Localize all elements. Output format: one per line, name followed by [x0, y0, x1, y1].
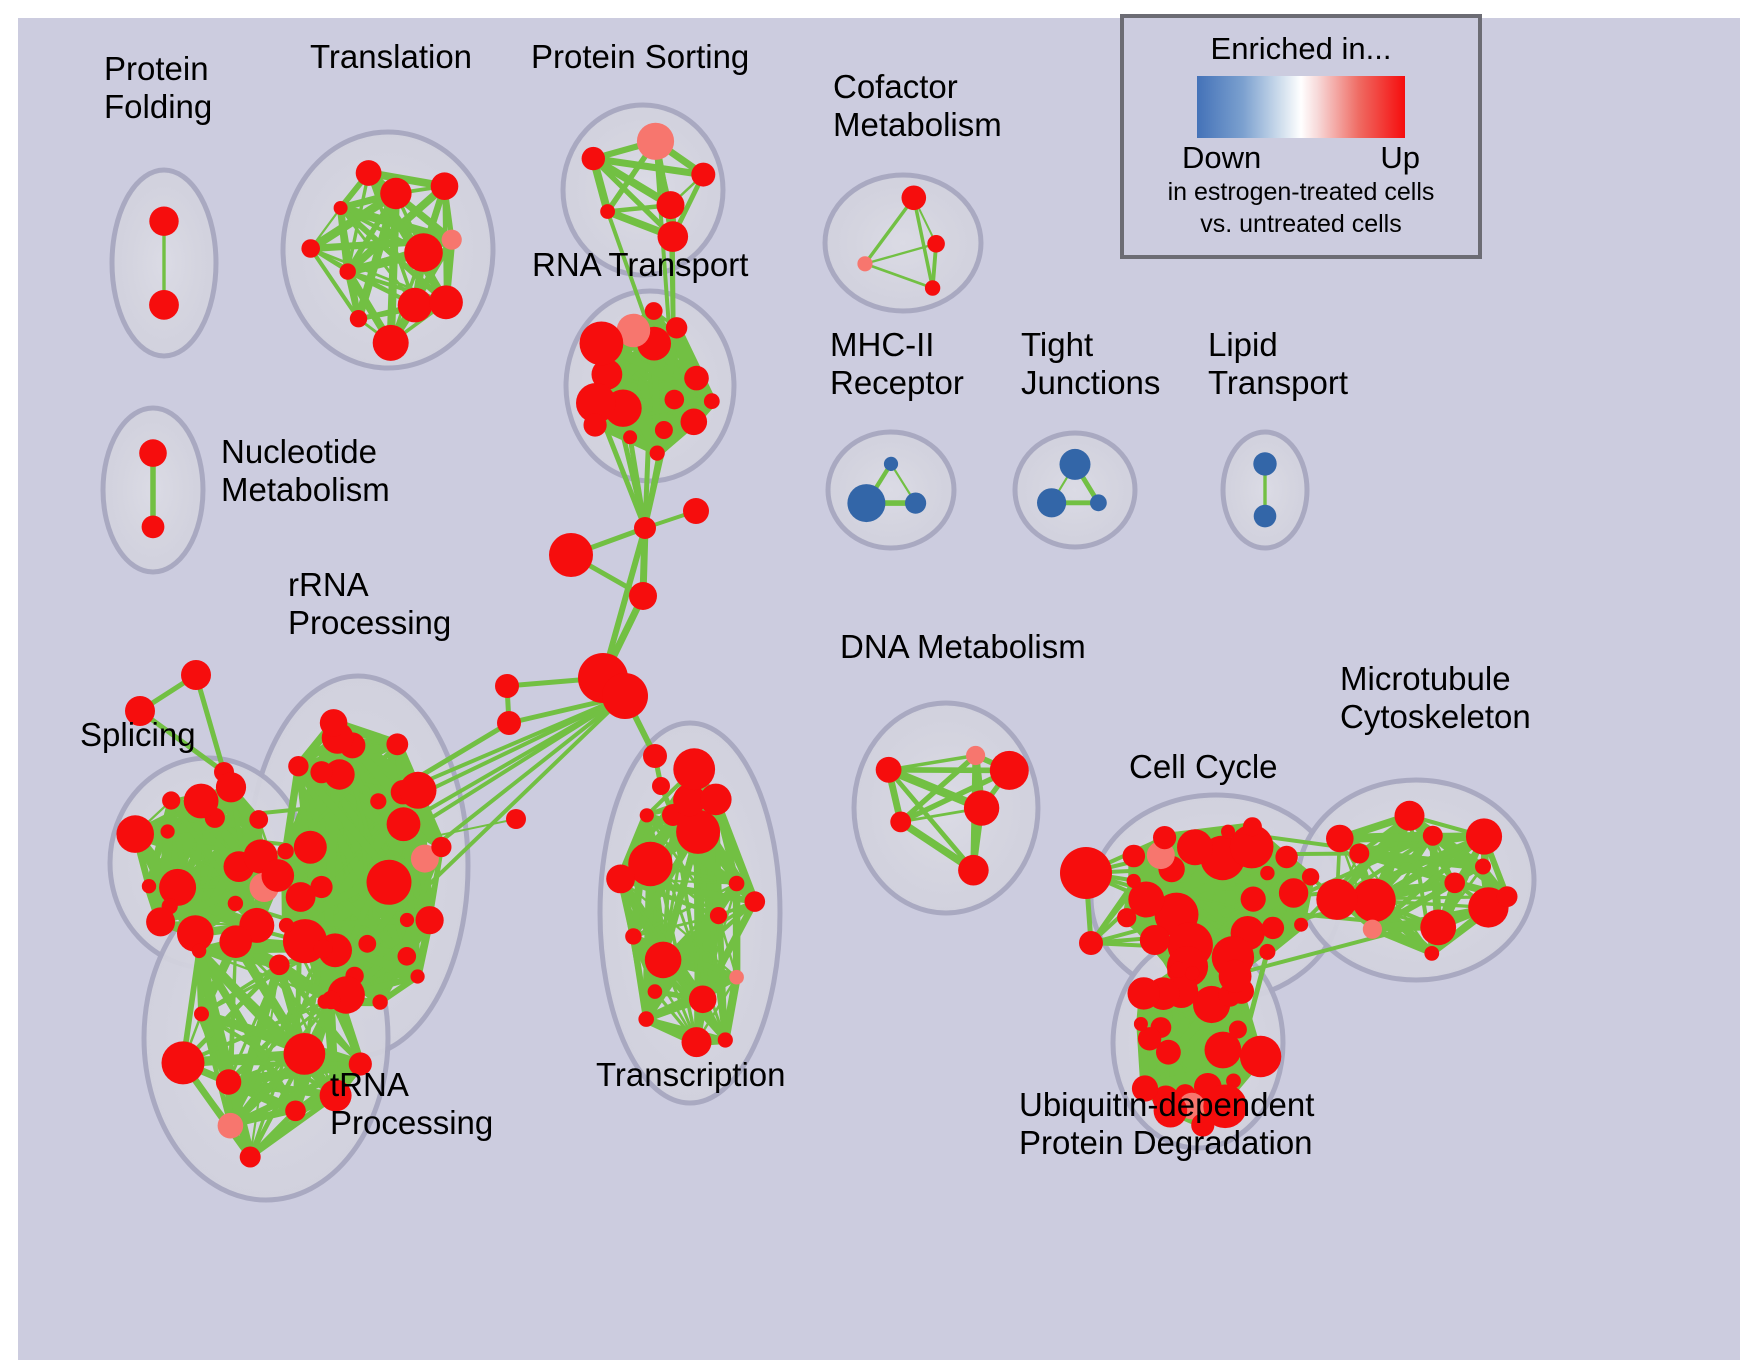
network-node-rna-transport: [645, 302, 663, 320]
network-node-splicing: [216, 772, 246, 802]
network-node-rrna-processing: [310, 761, 332, 783]
cluster-label-tight-junctions: Junctions: [1021, 364, 1160, 401]
network-node-rna-transport: [681, 409, 708, 436]
network-node-bridge: [602, 673, 648, 719]
network-node-mhc-ii-receptor: [884, 457, 898, 471]
network-node-rna-transport: [655, 421, 673, 439]
network-node-protein-sorting: [582, 147, 605, 170]
legend-gradient-bar: [1197, 76, 1405, 138]
network-node-protein-sorting: [637, 123, 674, 160]
network-node-bridge: [181, 660, 211, 690]
network-node-dna-metabolism: [958, 855, 989, 886]
cluster-ellipse-dna-metabolism: [854, 703, 1038, 913]
network-node-microtubule-cytoskeleton: [1466, 818, 1502, 854]
network-node-dna-metabolism: [876, 757, 902, 783]
network-node-translation: [442, 230, 462, 250]
network-node-rrna-processing: [370, 793, 386, 809]
cluster-label-lipid-transport: Transport: [1208, 364, 1348, 401]
network-node-splicing: [184, 784, 219, 819]
legend-low-label: Down: [1182, 140, 1261, 176]
cluster-label-ubiquitin-degradation: Ubiquitin-dependent: [1019, 1086, 1314, 1123]
network-node-rrna-processing: [286, 882, 316, 912]
network-node-rrna-processing: [400, 772, 437, 809]
network-node-trna-processing: [314, 939, 333, 958]
cluster-label-rrna-processing: Processing: [288, 604, 451, 641]
network-node-trna-processing: [218, 1113, 244, 1139]
network-node-trna-processing: [162, 1041, 205, 1084]
cluster-label-transcription: Transcription: [596, 1056, 786, 1093]
cluster-label-mhc-ii-receptor: Receptor: [830, 364, 964, 401]
network-node-cell-cycle: [1153, 826, 1176, 849]
network-node-trna-processing: [216, 1069, 241, 1094]
network-node-tight-junctions: [1037, 488, 1066, 517]
network-node-trna-processing: [240, 1147, 261, 1168]
network-node-rrna-processing: [386, 733, 408, 755]
network-node-ubiquitin-degradation: [1128, 977, 1160, 1009]
network-node-bridge: [1079, 931, 1103, 955]
network-node-cell-cycle: [1279, 878, 1308, 907]
network-node-dna-metabolism: [990, 751, 1029, 790]
network-node-rrna-processing: [320, 709, 348, 737]
network-node-protein-sorting: [691, 163, 715, 187]
network-node-rrna-processing: [431, 837, 451, 857]
legend-endpoints: Down Up: [1182, 140, 1420, 176]
network-node-microtubule-cytoskeleton: [1475, 859, 1491, 875]
network-node-transcription: [673, 748, 715, 790]
network-node-cofactor-metabolism: [925, 280, 940, 295]
network-node-cell-cycle: [1140, 925, 1170, 955]
cluster-label-protein-folding: Folding: [104, 88, 212, 125]
network-node-cell-cycle: [1275, 846, 1297, 868]
network-node-ubiquitin-degradation: [1219, 960, 1252, 993]
network-node-translation: [356, 160, 382, 186]
network-node-ubiquitin-degradation: [1240, 1036, 1281, 1077]
cluster-label-dna-metabolism: DNA Metabolism: [840, 628, 1086, 665]
network-node-rrna-processing: [358, 935, 376, 953]
network-node-lipid-transport: [1254, 505, 1277, 528]
network-node-translation: [373, 325, 409, 361]
cluster-label-lipid-transport: Lipid: [1208, 326, 1278, 363]
network-node-rrna-processing: [387, 807, 421, 841]
network-node-protein-folding: [149, 290, 179, 320]
legend-high-label: Up: [1380, 140, 1420, 176]
network-node-rna-transport: [665, 390, 685, 410]
network-node-microtubule-cytoskeleton: [1316, 879, 1357, 920]
network-node-trna-processing: [192, 944, 206, 958]
network-node-transcription: [745, 891, 766, 912]
network-node-transcription: [710, 907, 727, 924]
network-node-translation: [431, 172, 459, 200]
network-node-microtubule-cytoskeleton: [1395, 801, 1425, 831]
network-node-dna-metabolism: [966, 746, 985, 765]
network-node-mhc-ii-receptor: [847, 484, 885, 522]
network-node-bridge: [634, 517, 656, 539]
network-node-rrna-processing: [277, 843, 293, 859]
legend-title: Enriched in...: [1211, 32, 1392, 66]
network-node-tight-junctions: [1090, 494, 1107, 511]
network-node-protein-sorting: [657, 191, 685, 219]
cluster-label-cofactor-metabolism: Cofactor: [833, 68, 958, 105]
network-node-rrna-processing: [294, 831, 327, 864]
network-node-rna-transport: [704, 393, 720, 409]
network-node-rrna-processing: [416, 906, 444, 934]
network-node-rrna-processing: [400, 913, 414, 927]
network-node-translation: [404, 233, 443, 272]
network-node-bridge: [683, 498, 709, 524]
network-node-translation: [334, 201, 348, 215]
network-node-splicing: [116, 815, 154, 853]
network-node-translation: [380, 178, 411, 209]
network-node-transcription: [676, 810, 720, 854]
network-node-cell-cycle: [1260, 866, 1274, 880]
network-node-cell-cycle: [1221, 825, 1235, 839]
network-node-microtubule-cytoskeleton: [1363, 920, 1382, 939]
network-node-cell-cycle: [1241, 887, 1266, 912]
network-node-microtubule-cytoskeleton: [1424, 946, 1439, 961]
network-node-bridge: [497, 711, 521, 735]
network-node-protein-sorting: [600, 204, 615, 219]
network-node-bridge: [629, 582, 657, 610]
network-node-trna-processing: [219, 925, 252, 958]
network-node-ubiquitin-degradation: [1170, 962, 1186, 978]
network-node-cell-cycle: [1117, 908, 1136, 927]
network-node-splicing: [142, 879, 156, 893]
cluster-label-trna-processing: Processing: [330, 1104, 493, 1141]
cluster-label-protein-folding: Protein: [104, 50, 209, 87]
network-node-microtubule-cytoskeleton: [1497, 886, 1518, 907]
network-node-splicing: [162, 791, 180, 809]
network-node-bridge: [1060, 847, 1112, 899]
network-node-rna-transport: [650, 446, 665, 461]
network-node-splicing: [262, 859, 295, 892]
network-node-transcription: [700, 784, 732, 816]
network-node-bridge: [549, 533, 593, 577]
network-node-transcription: [689, 986, 717, 1014]
network-node-cell-cycle: [1302, 868, 1319, 885]
cluster-label-cofactor-metabolism: Metabolism: [833, 106, 1002, 143]
network-node-splicing: [228, 896, 243, 911]
network-node-microtubule-cytoskeleton: [1349, 844, 1369, 864]
network-node-transcription: [648, 984, 663, 999]
cluster-label-mhc-ii-receptor: MHC-II: [830, 326, 934, 363]
network-node-cell-cycle: [1243, 817, 1262, 836]
legend-panel: Enriched in... Down Up in estrogen-treat…: [1120, 14, 1482, 259]
cluster-label-tight-junctions: Tight: [1021, 326, 1093, 363]
cluster-label-microtubule-cytoskeleton: Cytoskeleton: [1340, 698, 1531, 735]
network-node-transcription: [729, 970, 744, 985]
cluster-label-rrna-processing: rRNA: [288, 566, 369, 603]
network-node-transcription: [682, 1027, 712, 1057]
network-node-microtubule-cytoskeleton: [1423, 826, 1443, 846]
network-node-rna-transport: [666, 317, 687, 338]
network-node-mhc-ii-receptor: [905, 493, 926, 514]
network-node-trna-processing: [322, 991, 341, 1010]
network-node-cofactor-metabolism: [902, 186, 927, 211]
network-node-ubiquitin-degradation: [1134, 1017, 1148, 1031]
figure-root: ProteinFoldingTranslationProtein Sorting…: [0, 0, 1750, 1360]
network-node-splicing: [249, 810, 268, 829]
network-node-splicing: [146, 907, 175, 936]
network-node-translation: [429, 285, 463, 319]
network-node-transcription: [640, 808, 654, 822]
network-node-transcription: [718, 1032, 733, 1047]
network-node-translation: [340, 263, 356, 279]
network-node-cell-cycle: [1262, 917, 1284, 939]
network-node-cell-cycle: [1294, 918, 1308, 932]
network-node-rrna-processing: [398, 947, 417, 966]
network-edge: [183, 1063, 360, 1064]
network-node-ubiquitin-degradation: [1229, 1021, 1247, 1039]
cluster-label-microtubule-cytoskeleton: Microtubule: [1340, 660, 1511, 697]
network-node-trna-processing: [269, 955, 290, 976]
network-node-nucleotide-metabolism: [142, 516, 165, 539]
network-node-transcription: [606, 865, 635, 894]
network-node-rrna-processing: [372, 994, 387, 1009]
network-node-bridge: [643, 744, 667, 768]
cluster-label-nucleotide-metabolism: Metabolism: [221, 471, 390, 508]
network-node-cell-cycle: [1123, 845, 1146, 868]
network-node-cell-cycle: [1127, 874, 1141, 888]
network-node-dna-metabolism: [964, 790, 999, 825]
network-node-rna-transport: [684, 366, 709, 391]
network-node-translation: [398, 288, 433, 323]
network-edge: [1340, 836, 1484, 838]
network-node-nucleotide-metabolism: [139, 439, 167, 467]
network-node-rna-transport: [580, 322, 624, 366]
network-node-rrna-processing: [279, 918, 294, 933]
network-node-transcription: [625, 928, 641, 944]
network-node-ubiquitin-degradation: [1185, 966, 1199, 980]
network-node-transcription: [729, 876, 745, 892]
network-node-microtubule-cytoskeleton: [1352, 879, 1396, 923]
network-node-microtubule-cytoskeleton: [1326, 825, 1354, 853]
network-node-bridge: [652, 777, 670, 795]
network-node-transcription: [645, 942, 682, 979]
cluster-ellipse-mhc-ii-receptor: [828, 432, 954, 548]
network-node-rrna-processing: [367, 860, 412, 905]
network-node-rna-transport: [623, 430, 637, 444]
network-node-transcription: [638, 1011, 654, 1027]
network-node-translation: [301, 239, 320, 258]
network-node-dna-metabolism: [890, 812, 911, 833]
network-node-cofactor-metabolism: [857, 256, 872, 271]
cluster-label-cell-cycle: Cell Cycle: [1129, 748, 1278, 785]
network-node-splicing: [161, 824, 175, 838]
network-node-cell-cycle: [1259, 944, 1275, 960]
cluster-label-protein-sorting: Protein Sorting: [531, 38, 749, 75]
network-node-lipid-transport: [1253, 452, 1276, 475]
network-node-rrna-processing: [288, 756, 308, 776]
network-node-bridge: [495, 674, 519, 698]
cluster-label-ubiquitin-degradation: Protein Degradation: [1019, 1124, 1313, 1161]
network-node-cofactor-metabolism: [927, 235, 945, 253]
network-node-rrna-processing: [411, 969, 425, 983]
network-node-rna-transport: [584, 413, 607, 436]
network-node-translation: [350, 310, 367, 327]
network-node-trna-processing: [194, 1007, 209, 1022]
network-node-protein-folding: [149, 207, 178, 236]
network-node-microtubule-cytoskeleton: [1444, 873, 1465, 894]
cluster-label-splicing: Splicing: [80, 716, 196, 753]
cluster-label-trna-processing: tRNA: [330, 1066, 409, 1103]
network-node-microtubule-cytoskeleton: [1420, 910, 1456, 946]
cluster-label-nucleotide-metabolism: Nucleotide: [221, 433, 377, 470]
network-node-trna-processing: [285, 1101, 306, 1122]
network-node-trna-processing: [284, 1033, 326, 1075]
network-node-cell-cycle: [1177, 829, 1213, 865]
cluster-label-translation: Translation: [310, 38, 472, 75]
network-node-bridge: [506, 809, 526, 829]
network-node-tight-junctions: [1060, 449, 1091, 480]
legend-caption-line1: in estrogen-treated cells: [1168, 178, 1435, 208]
cluster-label-rna-transport: RNA Transport: [532, 246, 748, 283]
legend-caption-line2: vs. untreated cells: [1200, 210, 1402, 240]
